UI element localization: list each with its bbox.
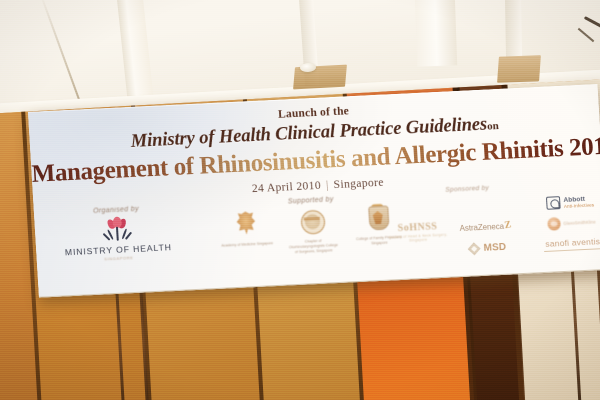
abbott-tagline: Anti-Infectives	[564, 202, 595, 208]
sponsor-cell	[444, 204, 524, 208]
supporter-caption: Academy of Medicine Singapore	[221, 241, 273, 248]
astrazeneca-wordmark: AstraZeneca	[459, 222, 504, 233]
college-of-surgeons-singapore-logo	[298, 207, 326, 238]
banner-separator: |	[321, 179, 334, 192]
academy-of-medicine-singapore-logo	[232, 210, 260, 241]
banner-subtitle-tail: on	[487, 120, 499, 133]
supporter-logo: Academy of Medicine Singapore	[219, 209, 273, 248]
sponsor-cell: AstraZeneca Z	[445, 220, 526, 234]
ministry-of-health-logo	[103, 216, 131, 243]
event-banner: Launch of the Ministry of Health Clinica…	[28, 84, 600, 298]
organised-by-group: Organised by MINISTRY OF HEALTH SINGAPOR…	[56, 204, 179, 264]
abbott-mark-icon	[546, 196, 561, 210]
sponsor-cell: Abbott Anti-Infectives	[524, 193, 600, 210]
supporter-caption: Chapter of Otorhinolaryngologists Colleg…	[287, 238, 340, 255]
astrazeneca-mark-icon: Z	[504, 220, 513, 231]
sponsored-by-group: Sponsored by Abbott Anti-Infectives	[443, 178, 600, 261]
sponsor-cell: sanofi aventis	[526, 236, 600, 253]
msd-wordmark: MSD	[483, 242, 506, 254]
sponsor-cell: GlaxoSmithKline	[525, 214, 600, 231]
banner-date: 24 April 2010	[252, 180, 322, 195]
photograph-scene: Launch of the Ministry of Health Clinica…	[0, 0, 600, 400]
abbott-logo: Abbott Anti-Infectives	[546, 194, 594, 209]
sohnss-logo: SoHNSS Society of Head & Neck Surgery, S…	[381, 220, 454, 243]
gsk-wordmark: GlaxoSmithKline	[563, 219, 596, 226]
sanofi-aventis-logo: sanofi aventis	[543, 236, 600, 251]
ceiling-vent-panel	[497, 55, 541, 83]
banner-location: Singapore	[333, 177, 384, 191]
ceiling-beam	[504, 0, 522, 58]
astrazeneca-logo: AstraZeneca Z	[459, 221, 511, 234]
banner-surface: Launch of the Ministry of Health Clinica…	[28, 84, 600, 298]
supporter-logo: Chapter of Otorhinolaryngologists Colleg…	[285, 206, 340, 255]
sponsor-cell: MSD	[447, 240, 528, 257]
gsk-mark-icon	[547, 217, 561, 231]
ceiling-beam	[413, 0, 457, 67]
msd-logo: MSD	[467, 241, 506, 256]
sanofi-aventis-wordmark: sanofi aventis	[543, 236, 600, 249]
msd-mark-icon	[467, 242, 481, 256]
glaxosmithkline-logo: GlaxoSmithKline	[547, 215, 596, 230]
